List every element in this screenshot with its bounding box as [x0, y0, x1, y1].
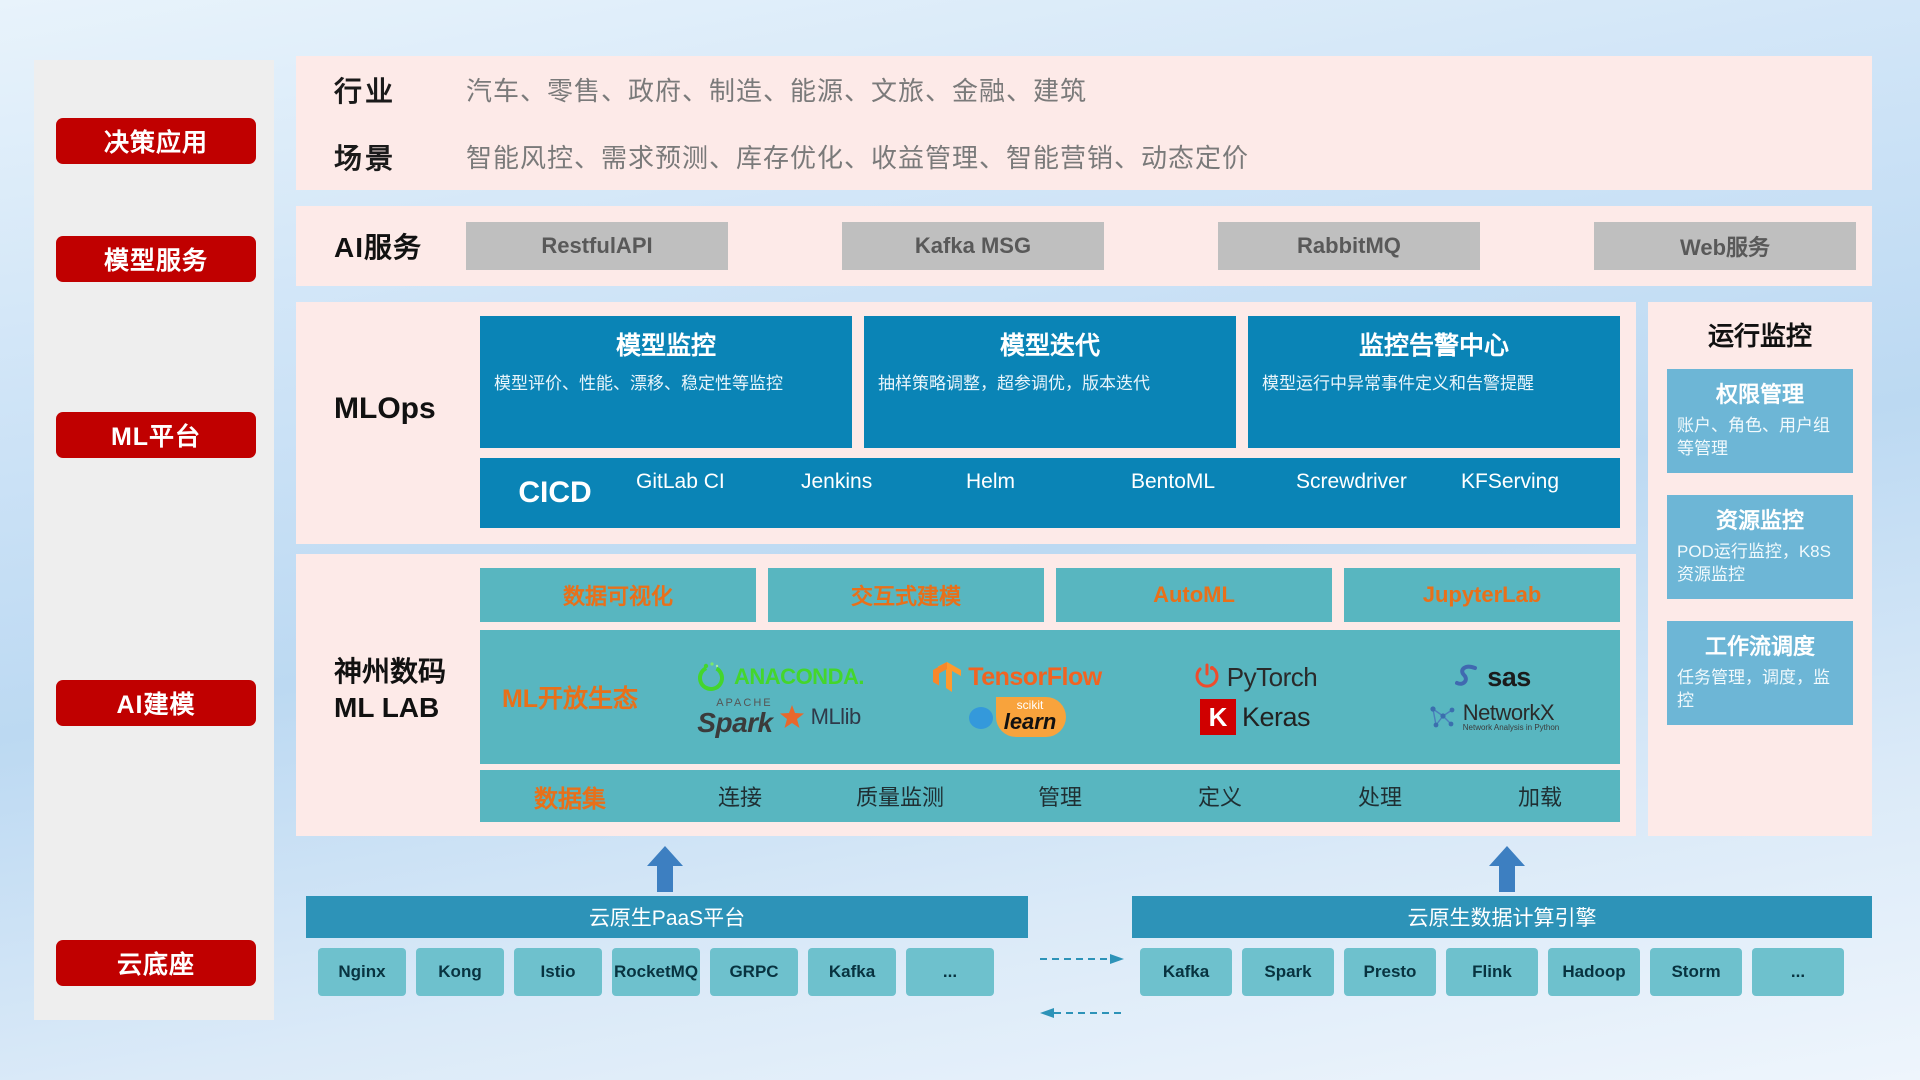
- ai-service-chip-kafka-msg[interactable]: Kafka MSG: [842, 222, 1104, 270]
- industry-value: 汽车、零售、政府、制造、能源、文旅、金融、建筑: [466, 71, 1087, 108]
- decision-apps-band: 行业 汽车、零售、政府、制造、能源、文旅、金融、建筑 场景 智能风控、需求预测、…: [296, 56, 1872, 190]
- ai-service-chip-restfulapi[interactable]: RestfulAPI: [466, 222, 728, 270]
- card-title: 模型迭代: [878, 326, 1222, 362]
- pill-spark[interactable]: Spark: [1242, 948, 1334, 996]
- dataset-item-quality[interactable]: 质量监测: [820, 780, 980, 812]
- mllib-wordmark: MLlib: [811, 704, 861, 730]
- upward-arrow-compute-icon: [1487, 846, 1527, 892]
- dashed-arrow-right-icon: [1040, 952, 1124, 966]
- chip-label: Web服务: [1680, 230, 1770, 262]
- upward-arrow-paas-icon: [645, 846, 685, 892]
- monitor-card-workflow[interactable]: 工作流调度 任务管理，调度，监控: [1667, 621, 1853, 725]
- pill-kafka[interactable]: Kafka: [808, 948, 896, 996]
- layer-chip-label: 云底座: [117, 945, 195, 981]
- cloud-native-compute-bar[interactable]: 云原生数据计算引擎: [1132, 896, 1872, 938]
- cicd-item-bentoml[interactable]: BentoML: [1125, 470, 1290, 494]
- tensorflow-logo: TensorFlow: [932, 660, 1101, 694]
- keras-mark-icon: K: [1200, 699, 1236, 735]
- card-desc: 任务管理，调度，监控: [1677, 667, 1843, 713]
- dataset-item-definition[interactable]: 定义: [1140, 780, 1300, 812]
- ml-open-ecosystem: ML开放生态 ANACONDA.: [480, 630, 1620, 764]
- card-title: 模型监控: [494, 326, 838, 362]
- pytorch-wordmark: PyTorch: [1227, 662, 1317, 693]
- dataset-item-connect[interactable]: 连接: [660, 780, 820, 812]
- card-title: 监控告警中心: [1262, 326, 1606, 362]
- pill-nginx[interactable]: Nginx: [318, 948, 406, 996]
- networkx-tagline: Network Analysis in Python: [1463, 724, 1560, 732]
- networkx-logo: NetworkX Network Analysis in Python: [1427, 702, 1560, 732]
- card-desc: 模型运行中异常事件定义和告警提醒: [1262, 372, 1606, 397]
- card-title: 权限管理: [1677, 377, 1843, 409]
- monitor-card-resource[interactable]: 资源监控 POD运行监控，K8S资源监控: [1667, 495, 1853, 599]
- cicd-title: CICD: [480, 476, 630, 510]
- pill-kafka[interactable]: Kafka: [1140, 948, 1232, 996]
- dataset-title: 数据集: [480, 779, 660, 814]
- ml-lab-label-line1: 神州数码: [334, 654, 446, 690]
- mlops-band: MLOps 模型监控 模型评价、性能、漂移、稳定性等监控 模型迭代 抽样策略调整…: [296, 302, 1636, 544]
- cloud-native-paas-bar[interactable]: 云原生PaaS平台: [306, 896, 1028, 938]
- card-desc: 账户、角色、用户组等管理: [1677, 415, 1843, 461]
- chip-label: RabbitMQ: [1297, 233, 1401, 259]
- dataset-item-loading[interactable]: 加载: [1460, 780, 1620, 812]
- dashed-arrow-left-icon: [1040, 1006, 1124, 1020]
- pill-flink[interactable]: Flink: [1446, 948, 1538, 996]
- ml-lab-label-line2: ML LAB: [334, 690, 446, 726]
- layer-chip-decision-apps[interactable]: 决策应用: [56, 118, 256, 164]
- layer-chip-model-service[interactable]: 模型服务: [56, 236, 256, 282]
- layer-chip-label: AI建模: [116, 685, 195, 721]
- ai-service-band: AI服务 RestfulAPI Kafka MSG RabbitMQ Web服务: [296, 206, 1872, 286]
- keras-wordmark: Keras: [1242, 702, 1310, 733]
- pill-hadoop[interactable]: Hadoop: [1548, 948, 1640, 996]
- ai-service-label: AI服务: [334, 226, 466, 266]
- cicd-item-gitlab-ci[interactable]: GitLab CI: [630, 470, 795, 494]
- pill-more[interactable]: ...: [1752, 948, 1844, 996]
- networkx-wordmark: NetworkX: [1463, 702, 1560, 724]
- card-title: 工作流调度: [1677, 629, 1843, 661]
- runtime-monitoring-title: 运行监控: [1648, 302, 1872, 369]
- pill-storm[interactable]: Storm: [1650, 948, 1742, 996]
- cicd-item-helm[interactable]: Helm: [960, 470, 1125, 494]
- sas-mark-icon: [1455, 662, 1481, 692]
- architecture-diagram: 决策应用 模型服务 ML平台 AI建模 云底座 行业 汽车、零售、政府、制造、能…: [0, 0, 1920, 1080]
- ml-lab-label: 神州数码 ML LAB: [334, 654, 446, 726]
- card-desc: 模型评价、性能、漂移、稳定性等监控: [494, 372, 838, 397]
- ai-service-chip-rabbitmq[interactable]: RabbitMQ: [1218, 222, 1480, 270]
- tensorflow-mark-icon: [932, 660, 962, 694]
- cicd-item-jenkins[interactable]: Jenkins: [795, 470, 960, 494]
- dataset-item-processing[interactable]: 处理: [1300, 780, 1460, 812]
- anaconda-mark-icon: [694, 660, 728, 694]
- pill-presto[interactable]: Presto: [1344, 948, 1436, 996]
- pill-istio[interactable]: Istio: [514, 948, 602, 996]
- lab-tool-data-visualization[interactable]: 数据可视化: [480, 568, 756, 622]
- sas-logo: sas: [1455, 662, 1531, 693]
- pill-kong[interactable]: Kong: [416, 948, 504, 996]
- dataset-row: 数据集 连接 质量监测 管理 定义 处理 加载: [480, 770, 1620, 822]
- spark-wordmark: Spark: [697, 709, 772, 737]
- pill-rocketmq[interactable]: RocketMQ: [612, 948, 700, 996]
- ecosystem-logo-grid: ANACONDA. TensorFlow: [660, 657, 1620, 737]
- lab-tool-interactive-modeling[interactable]: 交互式建模: [768, 568, 1044, 622]
- mlops-card-model-iteration[interactable]: 模型迭代 抽样策略调整，超参调优，版本迭代: [864, 316, 1236, 448]
- industry-row: 行业 汽车、零售、政府、制造、能源、文旅、金融、建筑: [296, 56, 1872, 123]
- networkx-graph-icon: [1427, 702, 1457, 732]
- layer-chip-cloud-base[interactable]: 云底座: [56, 940, 256, 986]
- compute-component-pills: Kafka Spark Presto Flink Hadoop Storm ..…: [1140, 948, 1844, 996]
- runtime-monitoring-panel: 运行监控 权限管理 账户、角色、用户组等管理 资源监控 POD运行监控，K8S资…: [1648, 302, 1872, 836]
- ai-service-chip-web-service[interactable]: Web服务: [1594, 222, 1856, 270]
- pytorch-logo: PyTorch: [1193, 661, 1317, 693]
- pill-grpc[interactable]: GRPC: [710, 948, 798, 996]
- paas-component-pills: Nginx Kong Istio RocketMQ GRPC Kafka ...: [318, 948, 994, 996]
- monitor-card-permission[interactable]: 权限管理 账户、角色、用户组等管理: [1667, 369, 1853, 473]
- cicd-row: CICD GitLab CI Jenkins Helm BentoML Scre…: [480, 458, 1620, 528]
- cicd-item-kfserving[interactable]: KFServing: [1455, 470, 1620, 494]
- pytorch-mark-icon: [1193, 661, 1221, 693]
- scenario-value: 智能风控、需求预测、库存优化、收益管理、智能营销、动态定价: [466, 138, 1249, 175]
- layer-chip-ai-modeling[interactable]: AI建模: [56, 680, 256, 726]
- tensorflow-wordmark: TensorFlow: [968, 663, 1101, 692]
- layer-chip-ml-platform[interactable]: ML平台: [56, 412, 256, 458]
- ai-modeling-band: 神州数码 ML LAB 数据可视化 交互式建模 AutoML JupyterLa…: [296, 554, 1636, 836]
- mlops-card-model-monitoring[interactable]: 模型监控 模型评价、性能、漂移、稳定性等监控: [480, 316, 852, 448]
- mlops-cards: 模型监控 模型评价、性能、漂移、稳定性等监控 模型迭代 抽样策略调整，超参调优，…: [480, 316, 1620, 448]
- chip-label: RestfulAPI: [541, 233, 652, 259]
- apache-spark-mllib-logo: APACHE Spark MLlib: [697, 698, 860, 737]
- lab-tool-jupyterlab[interactable]: JupyterLab: [1344, 568, 1620, 622]
- chip-label: Kafka MSG: [915, 233, 1031, 259]
- anaconda-wordmark: ANACONDA.: [734, 664, 864, 690]
- layer-chip-label: 模型服务: [104, 241, 208, 277]
- spark-star-icon: [779, 704, 805, 730]
- ml-open-ecosystem-label: ML开放生态: [480, 679, 660, 715]
- ai-service-items: RestfulAPI Kafka MSG RabbitMQ Web服务: [466, 222, 1872, 270]
- layer-chip-label: 决策应用: [104, 123, 208, 159]
- layer-chip-label: ML平台: [111, 417, 201, 453]
- cicd-item-screwdriver[interactable]: Screwdriver: [1290, 470, 1455, 494]
- scenario-row: 场景 智能风控、需求预测、库存优化、收益管理、智能营销、动态定价: [296, 123, 1872, 190]
- industry-label: 行业: [334, 70, 466, 110]
- layer-legend-rail: 决策应用 模型服务 ML平台 AI建模 云底座: [34, 60, 274, 1020]
- scikit-learn-logo: scikit learn: [968, 697, 1067, 737]
- card-desc: 抽样策略调整，超参调优，版本迭代: [878, 372, 1222, 397]
- keras-logo: K Keras: [1200, 699, 1310, 735]
- sas-wordmark: sas: [1487, 662, 1531, 693]
- mlops-card-alert-center[interactable]: 监控告警中心 模型运行中异常事件定义和告警提醒: [1248, 316, 1620, 448]
- learn-label: learn: [1004, 711, 1057, 733]
- anaconda-logo: ANACONDA.: [694, 660, 864, 694]
- card-title: 资源监控: [1677, 503, 1843, 535]
- pill-more[interactable]: ...: [906, 948, 994, 996]
- mlops-label: MLOps: [334, 392, 436, 426]
- scenario-label: 场景: [334, 137, 466, 177]
- lab-tool-automl[interactable]: AutoML: [1056, 568, 1332, 622]
- card-desc: POD运行监控，K8S资源监控: [1677, 541, 1843, 587]
- dataset-item-management[interactable]: 管理: [980, 780, 1140, 812]
- ml-lab-tools: 数据可视化 交互式建模 AutoML JupyterLab: [480, 568, 1620, 622]
